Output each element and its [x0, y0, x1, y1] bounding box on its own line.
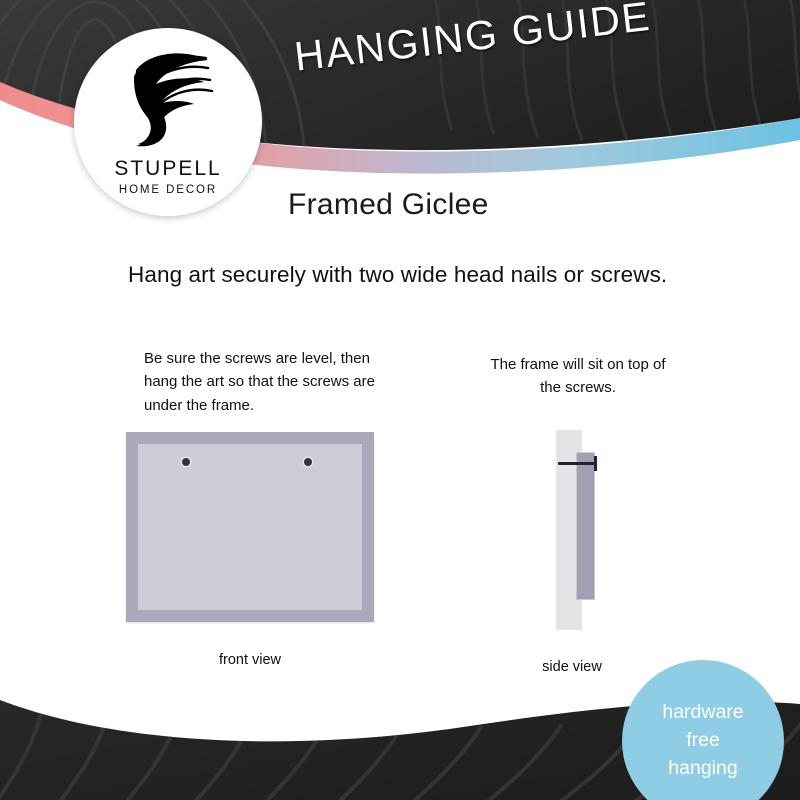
hanging-guide-page: STUPELL HOME DECOR HANGING GUIDE Framed … — [0, 0, 800, 800]
badge-line-3: hanging — [668, 755, 737, 783]
nail-shaft-icon — [558, 462, 596, 465]
side-view-diagram — [540, 430, 650, 630]
screw-dot-left — [182, 458, 190, 466]
brand-name: STUPELL — [114, 158, 221, 179]
frame-cross-section — [576, 452, 595, 600]
front-view-diagram — [126, 432, 374, 622]
front-view-caption: Be sure the screws are level, then hang … — [144, 347, 404, 417]
brand-tagline: HOME DECOR — [119, 185, 217, 197]
nail-head-icon — [594, 456, 597, 471]
stupell-swoosh-logo-icon — [108, 48, 228, 152]
product-type-subtitle: Framed Giclee — [288, 188, 489, 222]
instruction-headline: Hang art securely with two wide head nai… — [128, 262, 667, 288]
brand-logo-badge: STUPELL HOME DECOR — [74, 28, 262, 216]
screw-dot-right — [304, 458, 312, 466]
badge-line-1: hardware — [662, 699, 743, 727]
badge-line-2: free — [686, 727, 720, 755]
side-view-caption: The frame will sit on top of the screws. — [478, 353, 678, 400]
frame-art-mat — [138, 444, 362, 610]
